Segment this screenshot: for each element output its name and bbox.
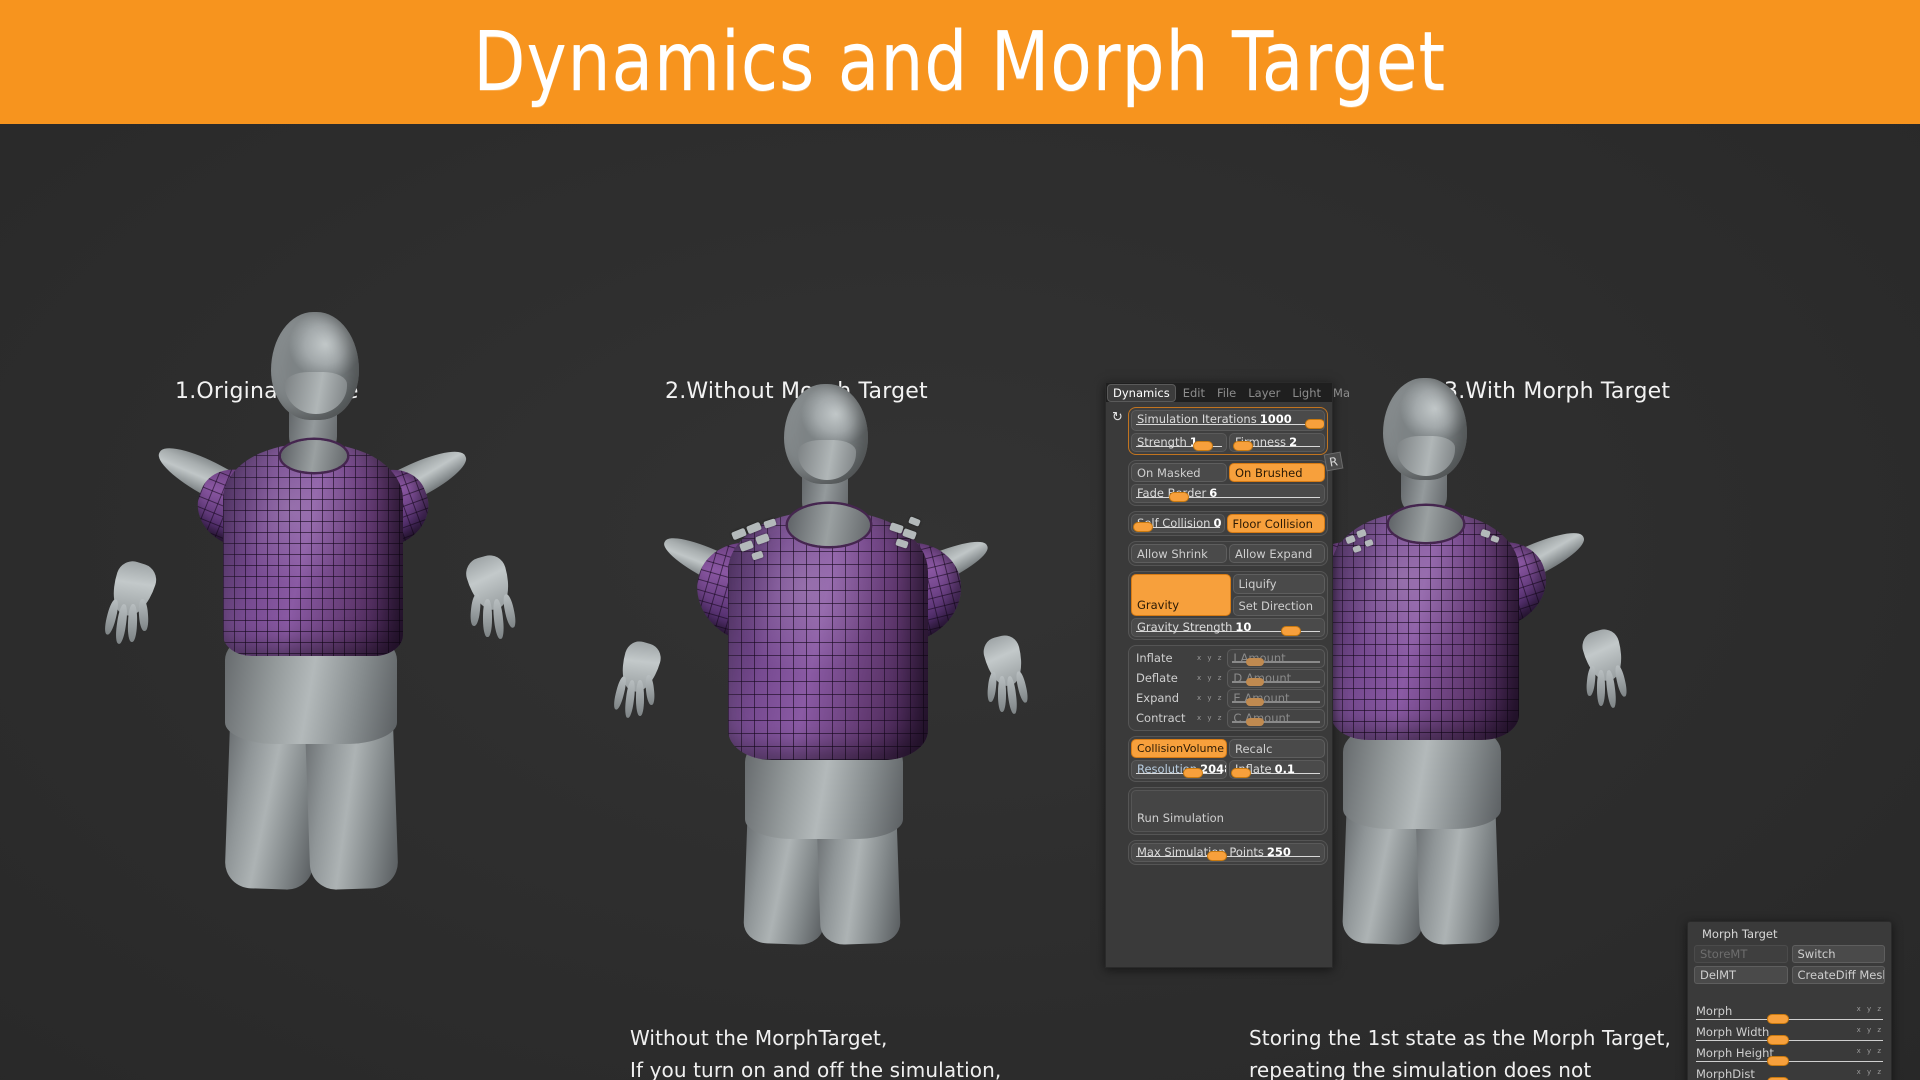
button-recalc[interactable]: Recalc [1229,739,1325,758]
rotate-glyph: R [1323,451,1343,471]
reset-arrow-icon[interactable]: ↻ [1112,411,1125,424]
tab-file[interactable]: File [1212,384,1241,402]
label-morph-dist: MorphDist [1696,1067,1755,1080]
tab-layer[interactable]: Layer [1243,384,1285,402]
slider-morph-dist[interactable]: MorphDist x y z [1694,1067,1885,1080]
track [1136,497,1320,499]
button-run-simulation[interactable]: Run Simulation [1131,790,1325,832]
slider-strength[interactable]: Strength1 [1131,433,1227,452]
button-store-mt[interactable]: StoreMT [1694,945,1788,963]
dynamics-palette[interactable]: Dynamics Edit File Layer Light Ma ↻ R Si… [1105,382,1333,968]
paragraph-with-morph-target: Storing the 1st state as the Morph Targe… [1249,1022,1671,1080]
button-switch[interactable]: Switch [1792,945,1886,963]
group-collision: Self Collision0 Floor Collision [1128,511,1328,536]
knob[interactable] [1184,769,1202,777]
slider-c-amount[interactable]: C Amount [1227,709,1325,728]
xyz-toggle-inflate[interactable]: x y z [1194,654,1226,662]
button-set-direction[interactable]: Set Direction [1233,596,1326,616]
button-on-brushed[interactable]: On Brushed [1229,463,1325,482]
knob[interactable] [1768,1057,1788,1065]
shirt-mesh-original [223,444,403,656]
knob[interactable] [1768,1015,1788,1023]
slider-i-amount[interactable]: I Amount [1227,649,1325,668]
button-del-mt[interactable]: DelMT [1694,966,1788,984]
track [1696,1061,1883,1063]
group-simulation: Simulation Iterations1000 Strength1 Fi [1128,407,1328,455]
morph-target-palette[interactable]: Morph Target StoreMT Switch DelMT Create… [1687,921,1892,1080]
group-max-simulation-points: Max Simulation Points250 [1128,840,1328,865]
morph-spacer [1694,987,1885,1004]
button-allow-expand[interactable]: Allow Expand [1229,544,1325,563]
knob[interactable] [1232,769,1250,777]
row-inflate[interactable]: Inflate x y z I Amount [1131,648,1325,668]
figure-original-shape [85,294,565,874]
label-morph-width: Morph Width [1696,1025,1769,1039]
slider-d-amount[interactable]: D Amount [1227,669,1325,688]
row-expand[interactable]: Expand x y z E Amount [1131,688,1325,708]
knob[interactable] [1194,442,1212,450]
button-allow-shrink[interactable]: Allow Shrink [1131,544,1227,563]
group-run-simulation: Run Simulation [1128,787,1328,835]
button-create-diff-mesh[interactable]: CreateDiff Mesh [1792,966,1886,984]
label-expand[interactable]: Expand [1131,691,1193,705]
slider-self-collision[interactable]: Self Collision0 [1131,514,1225,533]
row-deflate[interactable]: Deflate x y z D Amount [1131,668,1325,688]
page-title: Dynamics and Morph Target [474,15,1447,110]
label-morph-height: Morph Height [1696,1046,1774,1060]
slider-morph-width[interactable]: Morph Width x y z [1694,1025,1885,1045]
xyz-toggle-morph-height[interactable]: x y z [1857,1047,1883,1055]
title-banner: Dynamics and Morph Target [0,0,1920,124]
group-collision-volume: CollisionVolume Recalc Resolution2048 In… [1128,736,1328,782]
knob[interactable] [1306,420,1324,428]
morph-row-del: DelMT CreateDiff Mesh [1694,966,1885,984]
knob[interactable] [1246,698,1264,706]
slider-morph[interactable]: Morph x y z [1694,1004,1885,1024]
knob[interactable] [1768,1036,1788,1044]
xyz-toggle-morph[interactable]: x y z [1857,1005,1883,1013]
label-inflate[interactable]: Inflate [1131,651,1193,665]
knob[interactable] [1170,493,1188,501]
slider-firmness[interactable]: Firmness2 [1229,433,1325,452]
slider-cv-inflate[interactable]: Inflate0.1 [1229,760,1325,779]
group-inflate-deflate: Inflate x y z I Amount Deflate x y z D A… [1128,645,1328,731]
shirt-mesh-stretched [728,512,928,760]
button-on-masked[interactable]: On Masked [1131,463,1227,482]
slider-e-amount[interactable]: E Amount [1227,689,1325,708]
tab-light[interactable]: Light [1287,384,1326,402]
paragraph-without-morph-target: Without the MorphTarget, If you turn on … [630,1022,1001,1080]
knob[interactable] [1246,658,1264,666]
knob[interactable] [1134,523,1152,531]
xyz-toggle-morph-width[interactable]: x y z [1857,1026,1883,1034]
knob[interactable] [1246,678,1264,686]
slide-root: Dynamics and Morph Target 1.Original sha… [0,0,1920,1080]
slider-simulation-iterations[interactable]: Simulation Iterations1000 [1131,410,1325,431]
row-contract[interactable]: Contract x y z C Amount [1131,708,1325,728]
slider-gravity-strength[interactable]: Gravity Strength10 [1131,618,1325,637]
button-floor-collision[interactable]: Floor Collision [1227,514,1326,533]
track [1136,773,1222,775]
xyz-toggle-deflate[interactable]: x y z [1194,674,1226,682]
tab-dynamics[interactable]: Dynamics [1107,384,1176,402]
knob[interactable] [1208,852,1226,860]
morph-row-store: StoreMT Switch [1694,945,1885,963]
morph-target-title: Morph Target [1694,926,1885,945]
palette-tab-bar[interactable]: Dynamics Edit File Layer Light Ma [1106,383,1332,402]
button-gravity[interactable]: Gravity [1131,574,1231,616]
group-shrink-expand: Allow Shrink Allow Expand [1128,541,1328,566]
slider-fade-border[interactable]: Fade Border6 [1131,484,1325,503]
label-contract[interactable]: Contract [1131,711,1193,725]
track [1696,1040,1883,1042]
viewport-canvas: 1.Original shape 2.Without Morph Target … [0,124,1920,1080]
xyz-toggle-morph-dist[interactable]: x y z [1857,1068,1883,1076]
label-morph: Morph [1696,1004,1732,1018]
group-gravity: Gravity Liquify Set Direction Gravity St… [1128,571,1328,640]
rotate-badge-icon: R [1320,448,1346,474]
knob[interactable] [1234,442,1252,450]
button-liquify[interactable]: Liquify [1233,574,1326,594]
label-deflate[interactable]: Deflate [1131,671,1193,685]
slider-resolution[interactable]: Resolution2048 [1131,760,1227,779]
slider-max-simulation-points[interactable]: Max Simulation Points250 [1131,843,1325,862]
track [1136,856,1320,858]
xyz-toggle-expand[interactable]: x y z [1194,694,1226,702]
figure-without-morph-target [600,384,1060,944]
track [1696,1019,1883,1021]
button-collision-volume[interactable]: CollisionVolume [1131,739,1227,758]
group-masking: On Masked On Brushed Fade Border6 [1128,460,1328,506]
knob[interactable] [1246,718,1264,726]
tab-material[interactable]: Ma [1328,384,1355,402]
tab-edit[interactable]: Edit [1178,384,1210,402]
xyz-toggle-contract[interactable]: x y z [1194,714,1226,722]
slider-morph-height[interactable]: Morph Height x y z [1694,1046,1885,1066]
knob[interactable] [1282,627,1300,635]
track [1136,424,1320,426]
